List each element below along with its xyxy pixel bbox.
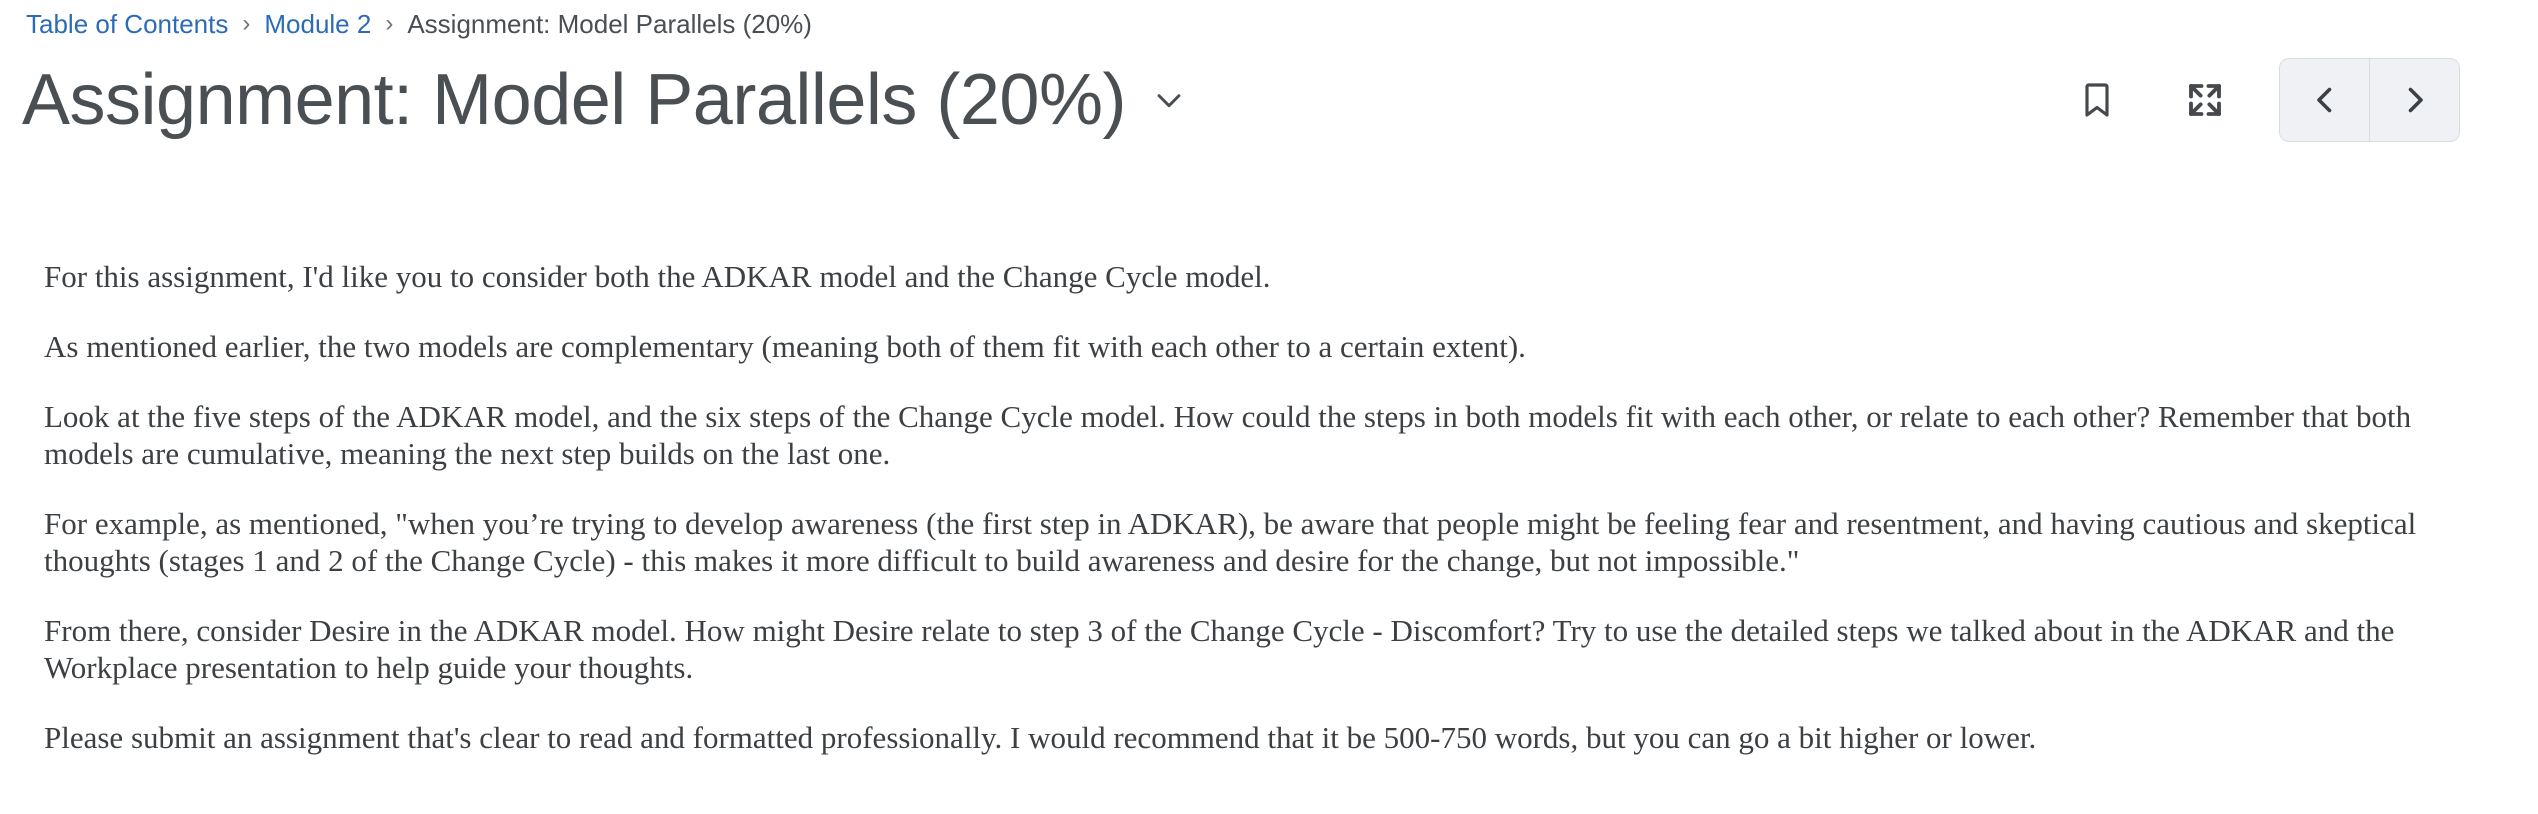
paragraph: For example, as mentioned, "when you’re … bbox=[44, 505, 2434, 579]
bookmark-icon[interactable] bbox=[2065, 68, 2129, 132]
paragraph: Look at the five steps of the ADKAR mode… bbox=[44, 398, 2434, 472]
page-title: Assignment: Model Parallels (20%) bbox=[22, 56, 1126, 144]
assignment-page: Table of Contents › Module 2 › Assignmen… bbox=[0, 0, 2538, 814]
page-toolbar bbox=[2065, 58, 2460, 142]
paragraph: Please submit an assignment that's clear… bbox=[44, 719, 2434, 756]
previous-page-button[interactable] bbox=[2280, 59, 2369, 141]
paragraph: From there, consider Desire in the ADKAR… bbox=[44, 612, 2434, 686]
page-title-block: Assignment: Model Parallels (20%) bbox=[22, 8, 1186, 192]
next-page-button[interactable] bbox=[2369, 59, 2459, 141]
fullscreen-expand-icon[interactable] bbox=[2173, 68, 2237, 132]
paragraph: For this assignment, I'd like you to con… bbox=[44, 258, 2434, 295]
assignment-body: For this assignment, I'd like you to con… bbox=[44, 258, 2434, 756]
chevron-down-icon[interactable] bbox=[1152, 83, 1186, 117]
paragraph: As mentioned earlier, the two models are… bbox=[44, 328, 2434, 365]
page-navigation-group bbox=[2279, 58, 2460, 142]
